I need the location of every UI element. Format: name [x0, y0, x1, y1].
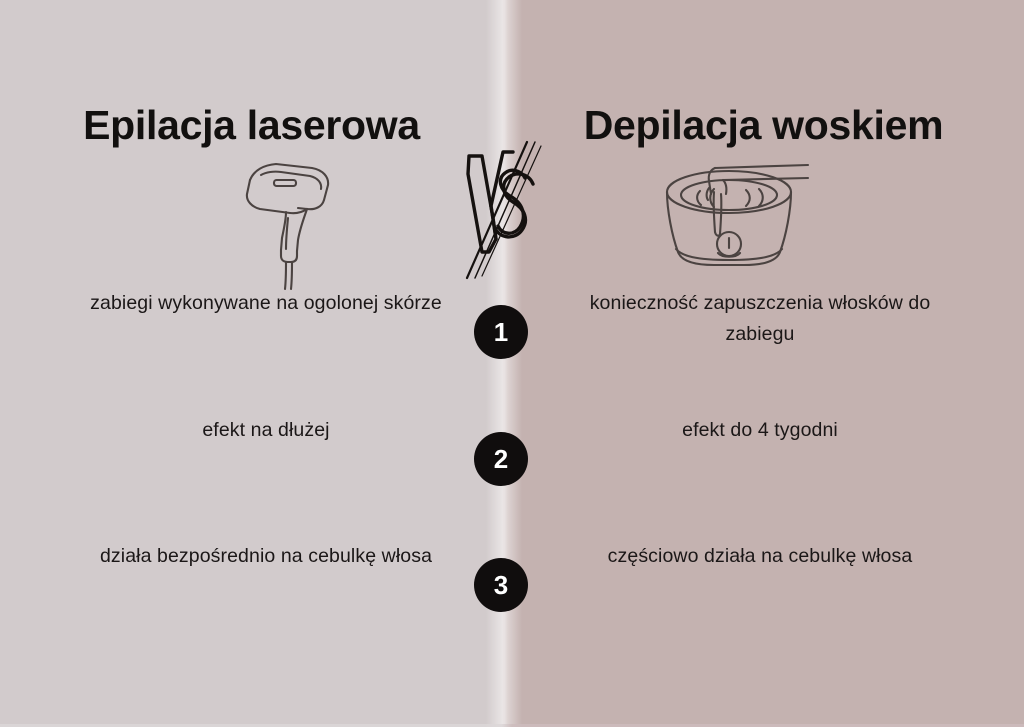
row-number-badge: 3 — [474, 558, 528, 612]
comparison-row: działa bezpośrednio na cebulkę włosa 3 c… — [0, 541, 1024, 631]
left-column-title: Epilacja laserowa — [0, 102, 503, 149]
left-feature-text: efekt na dłużej — [76, 415, 456, 446]
left-feature-text: zabiegi wykonywane na ogolonej skórze — [76, 288, 456, 319]
right-column-title: Depilacja woskiem — [503, 102, 1024, 149]
left-feature-text: działa bezpośrednio na cebulkę włosa — [76, 541, 456, 572]
comparison-row: zabiegi wykonywane na ogolonej skórze 1 … — [0, 288, 1024, 378]
right-feature-text: efekt do 4 tygodni — [560, 415, 960, 446]
row-number-badge: 1 — [474, 305, 528, 359]
row-number-badge: 2 — [474, 432, 528, 486]
comparison-row: efekt na dłużej 2 efekt do 4 tygodni — [0, 415, 1024, 505]
vs-slash-icon — [455, 140, 555, 280]
comparison-infographic: Epilacja laserowa Depilacja woskiem — [0, 0, 1024, 727]
right-feature-text: konieczność zapuszczenia włosków do zabi… — [560, 288, 960, 350]
wax-warmer-icon — [648, 148, 818, 293]
right-feature-text: częściowo działa na cebulkę włosa — [560, 541, 960, 572]
laser-handpiece-icon — [228, 152, 368, 292]
